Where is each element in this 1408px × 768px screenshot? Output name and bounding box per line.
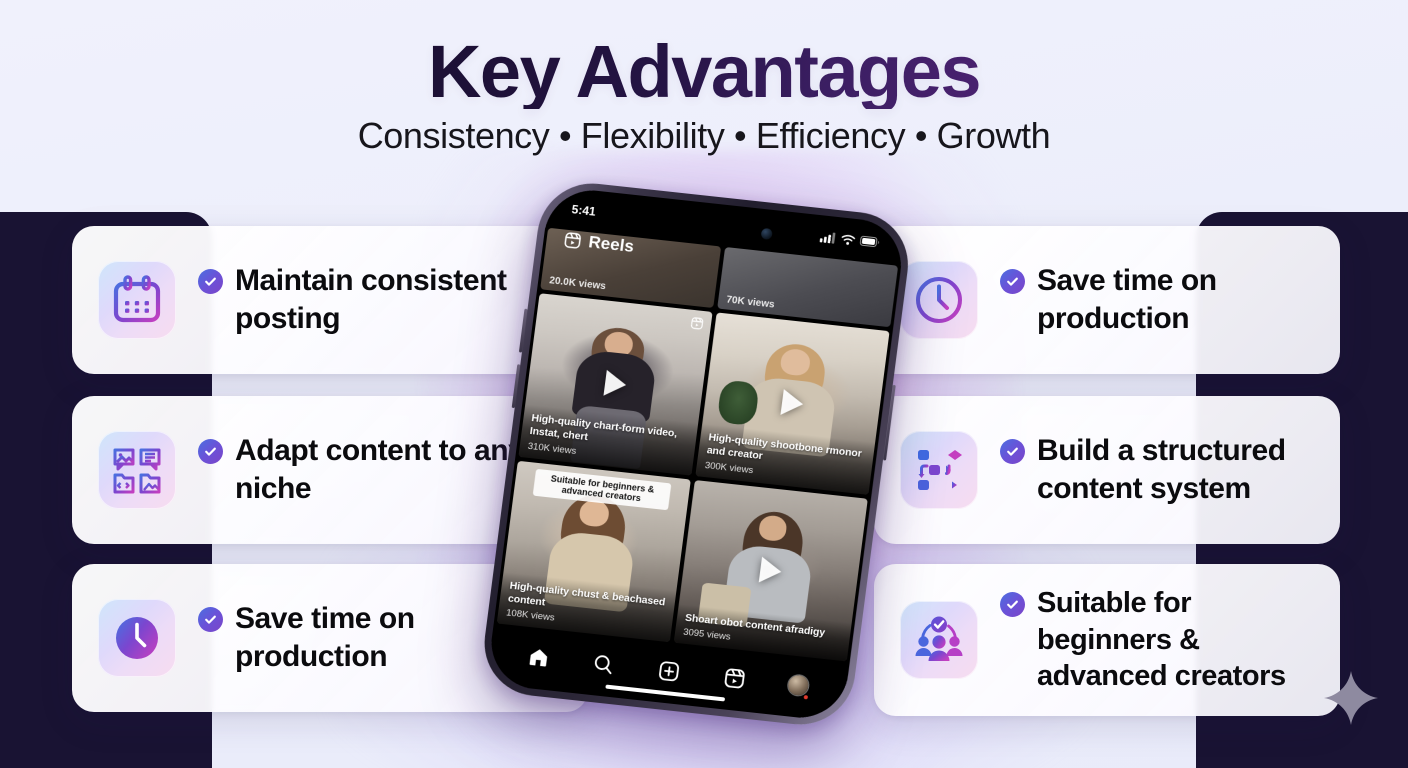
- volume-up-button[interactable]: [519, 309, 528, 353]
- views-count: 70K views: [726, 294, 776, 310]
- reel-card-1[interactable]: High-quality chart-form video, Instat, c…: [518, 293, 712, 475]
- phone-screen: 5:41: [486, 186, 907, 722]
- reels-badge-icon: [689, 316, 705, 331]
- search-icon: [591, 652, 616, 676]
- reels-icon: [563, 231, 583, 251]
- header: Key Advantages Consistency • Flexibility…: [0, 0, 1408, 200]
- profile-avatar[interactable]: [787, 674, 809, 696]
- front-camera: [761, 228, 773, 240]
- reel-card-4[interactable]: Shoart obot content afradigy 3095 views: [674, 480, 868, 662]
- icon-tile: [900, 431, 978, 509]
- volume-down-button[interactable]: [512, 364, 521, 408]
- play-button[interactable]: [780, 389, 804, 417]
- page-subtitle: Consistency • Flexibility • Efficiency •…: [358, 115, 1051, 157]
- check-badge-icon: [1000, 269, 1025, 294]
- check-badge-icon: [1000, 439, 1025, 464]
- calendar-icon: [109, 272, 165, 328]
- card-body: Save time on production: [1000, 262, 1314, 338]
- wifi-icon: [841, 233, 856, 245]
- advantage-card-save-time-right[interactable]: Save time on production: [874, 226, 1340, 374]
- advantage-card-suitable-creators[interactable]: Suitable for beginners & advanced creato…: [874, 564, 1340, 716]
- icon-tile: [98, 261, 176, 339]
- sparkle-icon: [1322, 669, 1380, 727]
- icon-tile: [900, 601, 978, 679]
- tab-add[interactable]: [657, 659, 682, 683]
- play-button[interactable]: [759, 556, 783, 584]
- clock-filled-icon: [109, 610, 165, 666]
- battery-icon: [859, 236, 880, 248]
- people-check-icon: [911, 612, 967, 668]
- check-badge-icon: [198, 439, 223, 464]
- reels-icon: [722, 666, 747, 690]
- views-count: 20.0K views: [549, 275, 607, 292]
- card-body: Build a structured content system: [1000, 432, 1314, 508]
- icon-tile: [98, 431, 176, 509]
- tab-reels[interactable]: [722, 666, 747, 690]
- check-badge-icon: [198, 607, 223, 632]
- tab-search[interactable]: [591, 652, 616, 676]
- card-body: Maintain consistent posting: [198, 262, 562, 338]
- page-title: Key Advantages: [428, 34, 980, 109]
- phone-screen-bezel: 5:41: [486, 186, 907, 722]
- check-badge-icon: [198, 269, 223, 294]
- reels-grid: 20.0K views 70K views: [493, 227, 901, 664]
- advantage-card-structured-system[interactable]: Build a structured content system: [874, 396, 1340, 544]
- add-icon: [657, 659, 682, 683]
- home-icon: [526, 645, 551, 669]
- cellular-signal-icon: [820, 231, 837, 244]
- check-badge-icon: [1000, 592, 1025, 617]
- card-label: Save time on production: [1037, 262, 1314, 338]
- power-button[interactable]: [883, 385, 896, 461]
- content-grid-icon: [109, 442, 165, 498]
- sparkle-decoration: [1322, 669, 1380, 732]
- poster-canvas: Key Advantages Consistency • Flexibility…: [0, 0, 1408, 768]
- card-label: Suitable for beginners & advanced creato…: [1037, 585, 1314, 695]
- phone-mockup: 5:41: [464, 177, 929, 736]
- play-button[interactable]: [603, 370, 627, 398]
- reel-card-3[interactable]: Suitable for beginners & advanced creato…: [497, 460, 691, 642]
- card-label: Build a structured content system: [1037, 432, 1314, 508]
- tab-home[interactable]: [526, 645, 551, 669]
- phone-frame: 5:41: [478, 178, 914, 730]
- status-indicators: [820, 231, 881, 248]
- workflow-icon: [911, 442, 967, 498]
- reel-card-2[interactable]: High-quality shootbone rmonor and creato…: [695, 312, 889, 494]
- status-time: 5:41: [571, 202, 597, 218]
- card-body: Suitable for beginners & advanced creato…: [1000, 585, 1314, 695]
- icon-tile: [98, 599, 176, 677]
